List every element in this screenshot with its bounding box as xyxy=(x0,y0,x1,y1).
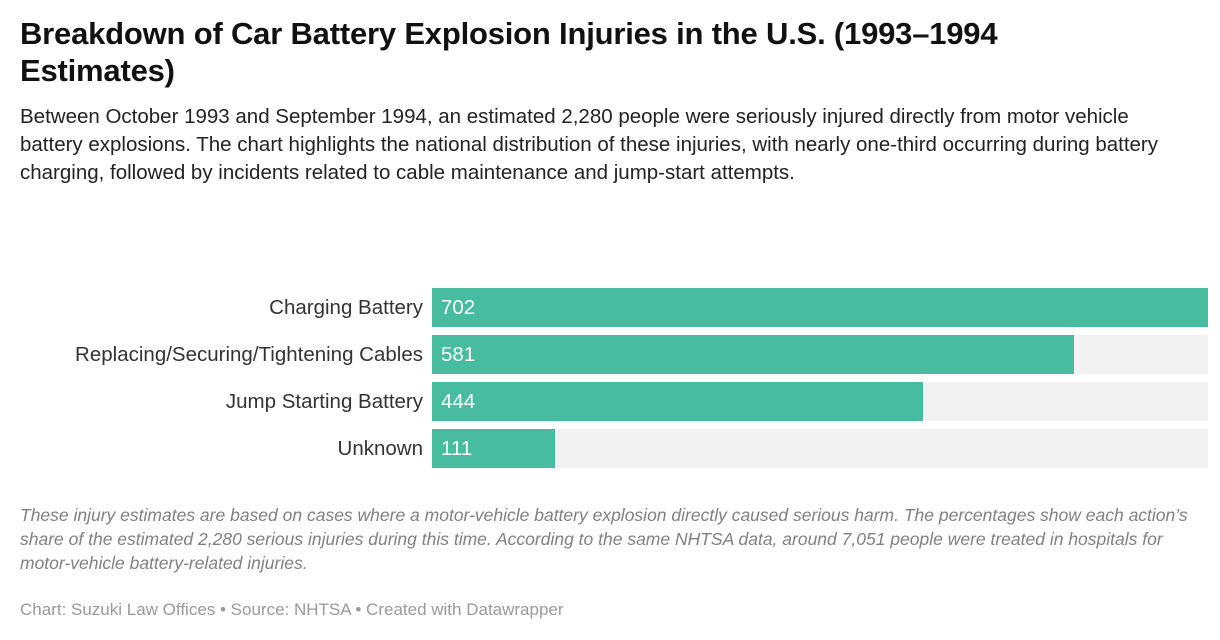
bar-track: 444 xyxy=(432,382,1208,421)
chart-container: Breakdown of Car Battery Explosion Injur… xyxy=(0,0,1220,640)
bar-fill[interactable] xyxy=(432,288,1208,327)
bar-category-label: Jump Starting Battery xyxy=(20,382,432,421)
bar-row: Unknown111 xyxy=(20,429,1208,468)
chart-footer-credits: Chart: Suzuki Law Offices • Source: NHTS… xyxy=(20,600,564,620)
bar-row: Charging Battery702 xyxy=(20,288,1208,327)
bar-fill[interactable] xyxy=(432,335,1074,374)
bar-track: 111 xyxy=(432,429,1208,468)
bar-category-label: Unknown xyxy=(20,429,432,468)
bar-chart-plot: Charging Battery702Replacing/Securing/Ti… xyxy=(20,288,1208,468)
bar-category-label: Charging Battery xyxy=(20,288,432,327)
bar-category-label: Replacing/Securing/Tightening Cables xyxy=(20,335,432,374)
page-title: Breakdown of Car Battery Explosion Injur… xyxy=(20,0,1140,89)
bar-track: 702 xyxy=(432,288,1208,327)
chart-notes: These injury estimates are based on case… xyxy=(20,503,1202,575)
bar-row: Replacing/Securing/Tightening Cables581 xyxy=(20,335,1208,374)
bar-value-label: 702 xyxy=(441,288,475,327)
bar-fill[interactable] xyxy=(432,382,923,421)
bar-track: 581 xyxy=(432,335,1208,374)
chart-description: Between October 1993 and September 1994,… xyxy=(20,89,1196,187)
bar-row: Jump Starting Battery444 xyxy=(20,382,1208,421)
bar-value-label: 111 xyxy=(441,429,472,468)
bar-value-label: 444 xyxy=(441,382,475,421)
bar-value-label: 581 xyxy=(441,335,475,374)
